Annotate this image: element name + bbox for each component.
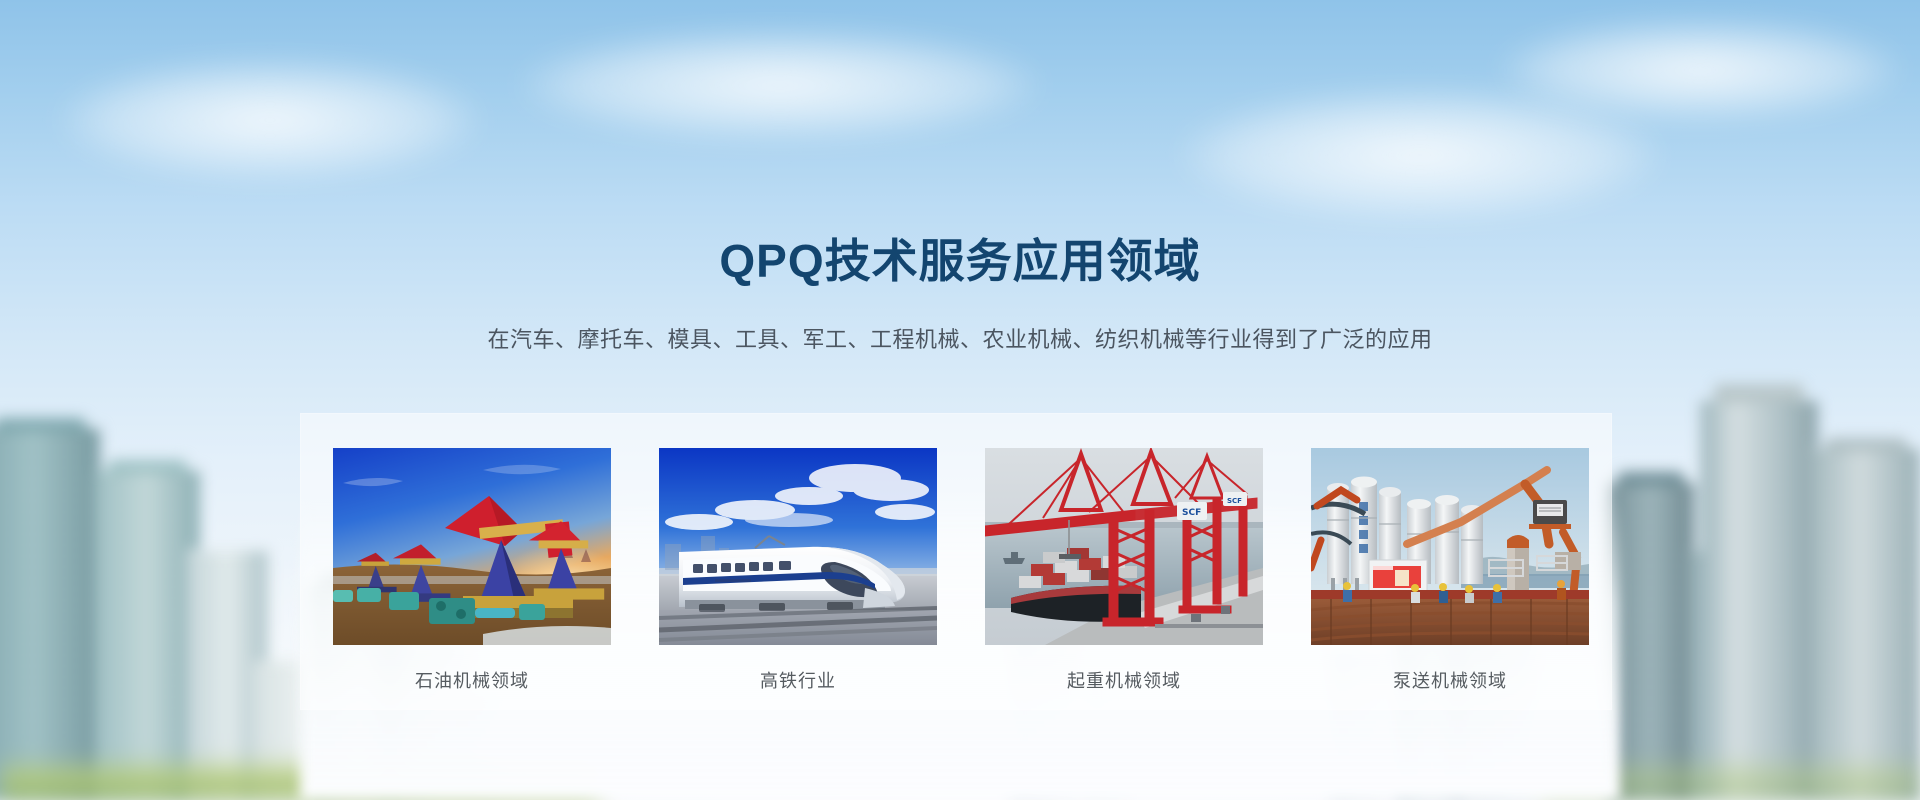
page-subtitle: 在汽车、摩托车、模具、工具、军工、工程机械、农业机械、纺织机械等行业得到了广泛的… xyxy=(0,322,1920,354)
concrete-pump-photo[interactable] xyxy=(1311,448,1589,645)
card-high-speed-rail[interactable]: 高铁行业 xyxy=(659,448,937,693)
page-title: QPQ技术服务应用领域 xyxy=(0,236,1920,287)
high-speed-train-photo[interactable] xyxy=(659,448,937,645)
card-caption: 起重机械领域 xyxy=(985,667,1263,693)
card-caption: 高铁行业 xyxy=(659,667,937,693)
svg-text:SCF: SCF xyxy=(1227,497,1242,505)
oil-pumpjack-photo[interactable] xyxy=(333,448,611,645)
svg-text:SCF: SCF xyxy=(1182,508,1201,518)
cloud-shape xyxy=(60,60,480,180)
cloud-shape xyxy=(1500,20,1900,120)
card-pumping-machinery[interactable]: 泵送机械领域 xyxy=(1311,448,1589,693)
card-caption: 泵送机械领域 xyxy=(1311,667,1589,693)
application-banner: QPQ技术服务应用领域 在汽车、摩托车、模具、工具、军工、工程机械、农业机械、纺… xyxy=(0,0,1920,800)
cloud-shape xyxy=(520,30,1040,140)
card-oil-machinery[interactable]: 石油机械领域 xyxy=(333,448,611,693)
port-gantry-crane-photo[interactable]: SCF SCF xyxy=(985,448,1263,645)
card-lifting-machinery[interactable]: SCF SCF 起重机械领域 xyxy=(985,448,1263,693)
card-caption: 石油机械领域 xyxy=(333,667,611,693)
application-card-list: 石油机械领域 xyxy=(333,448,1589,693)
